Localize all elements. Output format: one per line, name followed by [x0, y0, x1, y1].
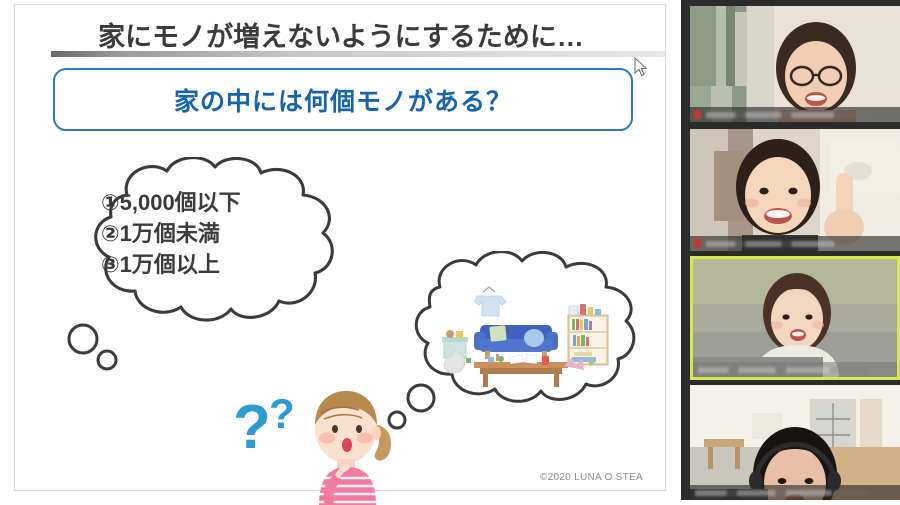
participant-3-video: [693, 259, 897, 377]
bookshelf-icon: [568, 304, 608, 365]
participant-tile-1[interactable]: [690, 6, 900, 122]
participant-2-name-bar: [690, 236, 900, 251]
participant-2-name-blurred: [706, 241, 870, 247]
slide-title: 家にモノが増えないようにするために…: [15, 15, 667, 54]
screen-root: 家にモノが増えないようにするために… 家の中には何個モノがある？ ①5,000個…: [0, 0, 900, 500]
participant-4-name-bar: [690, 485, 900, 500]
participant-tile-4[interactable]: [690, 385, 900, 500]
participant-3-name-blurred: [698, 367, 867, 373]
participant-1-name-blurred: [706, 112, 870, 118]
participant-4-portrait: [690, 385, 900, 500]
question-box: 家の中には何個モノがある？: [53, 68, 633, 131]
question-box-text: 家の中には何個モノがある？: [174, 82, 512, 118]
mouse-cursor: [634, 57, 648, 77]
answers-bubble-tail: [53, 323, 133, 383]
answer-option-3: ③1万個以上: [101, 249, 351, 280]
participant-video-rail: [681, 0, 900, 500]
thinking-woman-illustration: [291, 383, 401, 505]
participant-1-video: [690, 6, 900, 122]
title-divider-bar: [51, 51, 665, 57]
answer-option-2: ②1万個未満: [101, 218, 351, 249]
participant-tile-2[interactable]: [690, 129, 900, 251]
answers-list: ①5,000個以下 ②1万個未満 ③1万個以上: [101, 187, 351, 281]
slide-frame: 家にモノが増えないようにするために… 家の中には何個モノがある？ ①5,000個…: [14, 4, 666, 491]
participant-2-video: [690, 129, 900, 251]
participant-tile-3[interactable]: [690, 256, 900, 380]
participant-3-portrait: [693, 259, 897, 377]
answer-option-1: ①5,000個以下: [101, 187, 351, 218]
participant-3-name-bar: [693, 362, 897, 377]
participant-2-portrait: [690, 129, 900, 251]
sofa-icon: [474, 325, 558, 359]
answers-thought-bubble: ①5,000個以下 ②1万個未満 ③1万個以上: [65, 157, 365, 332]
copyright-text: ©2020 LUNA O STEA: [540, 472, 643, 483]
participant-4-video: [690, 385, 900, 500]
participant-1-name-bar: [690, 107, 900, 122]
shared-slide-area: 家にモノが増えないようにするために… 家の中には何個モノがある？ ①5,000個…: [0, 0, 681, 500]
cluttered-room-illustration: [428, 282, 618, 392]
participant-2-mic-muted-icon: [694, 239, 701, 248]
participant-1-portrait: [690, 6, 900, 122]
svg-text:?: ?: [233, 393, 271, 462]
participant-1-mic-muted-icon: [694, 110, 701, 119]
hanging-shirt-icon: [475, 287, 506, 316]
participant-4-name-blurred: [695, 490, 870, 496]
